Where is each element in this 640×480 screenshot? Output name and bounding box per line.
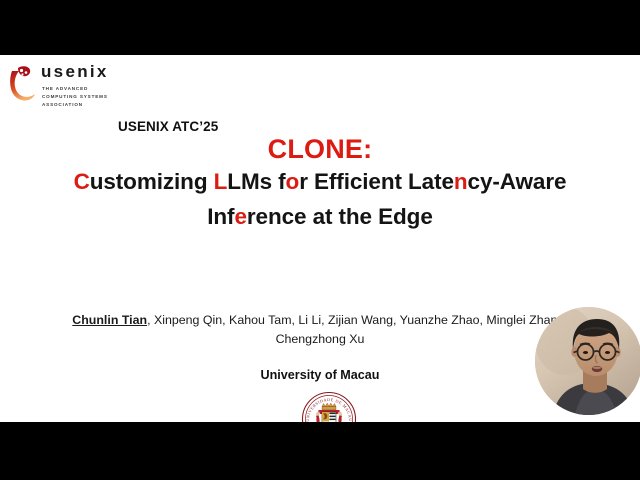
- title-block: CLONE: Customizing LLMs for Efficient La…: [0, 134, 640, 235]
- title-acronym: CLONE:: [0, 134, 640, 165]
- letterbox-bar-top: [0, 0, 640, 55]
- title-text-6: rence at the Edge: [247, 204, 433, 229]
- title-accent-c: C: [74, 169, 90, 194]
- title-line-1: Customizing LLMs for Efficient Latency-A…: [0, 165, 640, 200]
- presenting-author: Chunlin Tian: [72, 313, 147, 327]
- usenix-tagline: THE ADVANCED COMPUTING SYSTEMS ASSOCIATI…: [42, 85, 108, 109]
- usenix-logo: usenix THE ADVANCED COMPUTING SYSTEMS AS…: [8, 61, 116, 109]
- video-frame: usenix THE ADVANCED COMPUTING SYSTEMS AS…: [0, 0, 640, 480]
- author-list: Chunlin Tian, Xinpeng Qin, Kahou Tam, Li…: [70, 311, 570, 349]
- presenter-webcam[interactable]: [535, 307, 640, 415]
- title-text-5: Inf: [207, 204, 234, 229]
- usenix-wordmark: usenix: [41, 63, 109, 80]
- title-text-2: LMs f: [227, 169, 285, 194]
- title-text-3: r Efficient Late: [299, 169, 454, 194]
- letterbox-bar-bottom: [0, 422, 640, 480]
- title-accent-l: L: [214, 169, 228, 194]
- title-text-1: ustomizing: [90, 169, 214, 194]
- title-text-4: cy-Aware: [468, 169, 567, 194]
- coauthors: , Xinpeng Qin, Kahou Tam, Li Li, Zijian …: [147, 313, 568, 346]
- title-line-2: Inference at the Edge: [0, 200, 640, 235]
- title-accent-o: o: [286, 169, 300, 194]
- title-accent-n: n: [454, 169, 468, 194]
- usenix-swirl-mark-icon: [8, 65, 38, 103]
- title-accent-e: e: [234, 204, 246, 229]
- conference-name: USENIX ATC’25: [118, 119, 218, 134]
